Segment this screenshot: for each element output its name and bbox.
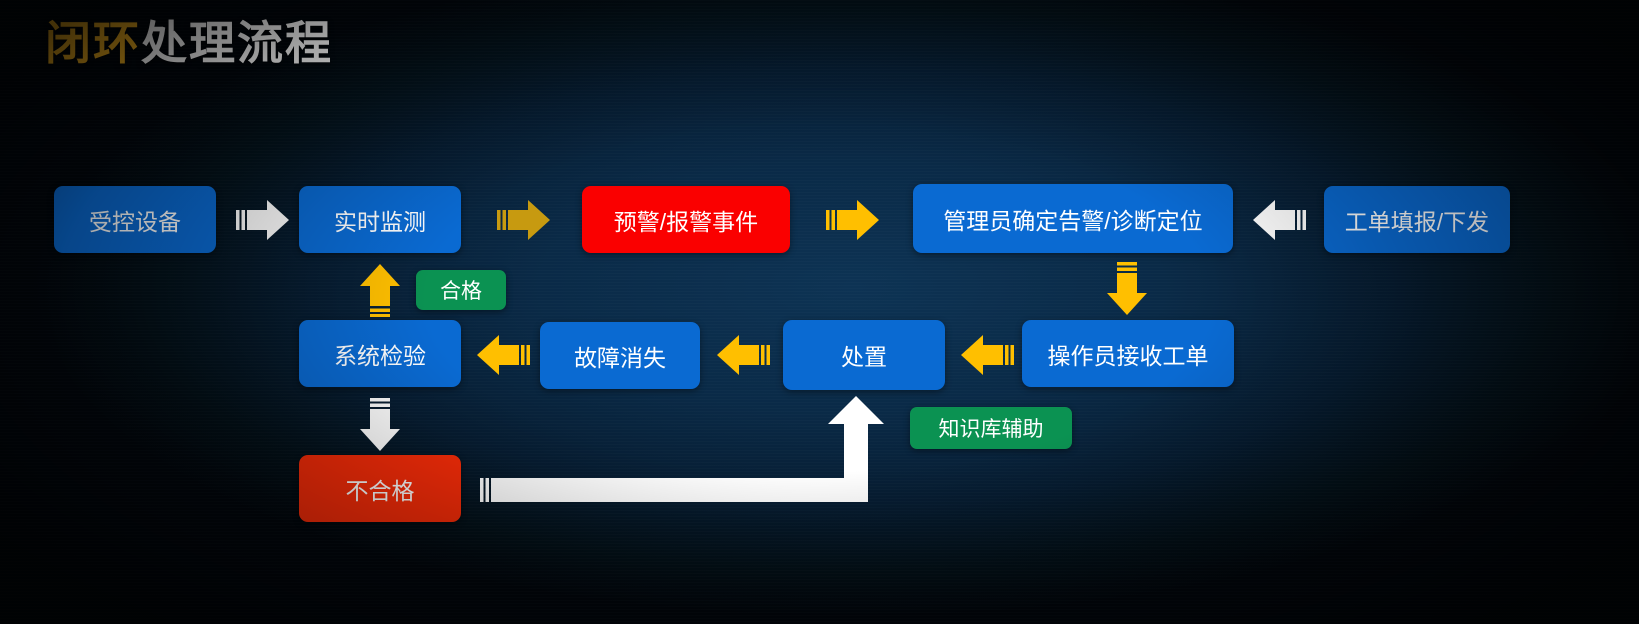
label-pass: 合格 — [416, 270, 506, 310]
arrow-fault-cleared-to-verify — [474, 330, 530, 380]
arrow-workorder-to-admin — [1250, 195, 1306, 245]
label-knowledge-base: 知识库辅助 — [910, 407, 1072, 449]
node-system-verify[interactable]: 系统检验 — [299, 320, 461, 387]
page-title-gold: 闭环 — [45, 17, 141, 69]
arrow-verify-to-monitoring-pass — [356, 263, 404, 317]
arrow-operator-to-disposal — [958, 330, 1014, 380]
arrow-monitoring-to-alarm — [497, 196, 551, 244]
vignette-overlay — [0, 0, 1639, 624]
node-work-order-submit[interactable]: 工单填报/下发 — [1324, 186, 1510, 253]
node-fault-cleared[interactable]: 故障消失 — [540, 322, 700, 389]
arrow-fail-back-to-disposal — [480, 394, 890, 506]
scanline-texture — [0, 0, 1639, 624]
arrow-device-to-monitoring — [236, 196, 290, 244]
node-fail[interactable]: 不合格 — [299, 455, 461, 522]
node-realtime-monitoring[interactable]: 实时监测 — [299, 186, 461, 253]
arrow-alarm-to-admin — [826, 196, 880, 244]
node-alarm-event[interactable]: 预警/报警事件 — [582, 186, 790, 253]
flowchart-canvas: 闭环处理流程 受控设备 实时监测 预警/报警事件 管理员确定告警/诊断定位 工单… — [0, 0, 1639, 624]
page-title: 闭环处理流程 — [45, 16, 333, 71]
node-operator-receive[interactable]: 操作员接收工单 — [1022, 320, 1234, 387]
node-admin-confirm[interactable]: 管理员确定告警/诊断定位 — [913, 184, 1233, 253]
arrow-admin-to-operator — [1103, 262, 1151, 316]
page-title-white: 处理流程 — [141, 17, 333, 69]
arrow-disposal-to-fault-cleared — [714, 330, 770, 380]
node-disposal[interactable]: 处置 — [783, 320, 945, 390]
node-controlled-device[interactable]: 受控设备 — [54, 186, 216, 253]
arrow-verify-to-fail — [356, 398, 404, 452]
